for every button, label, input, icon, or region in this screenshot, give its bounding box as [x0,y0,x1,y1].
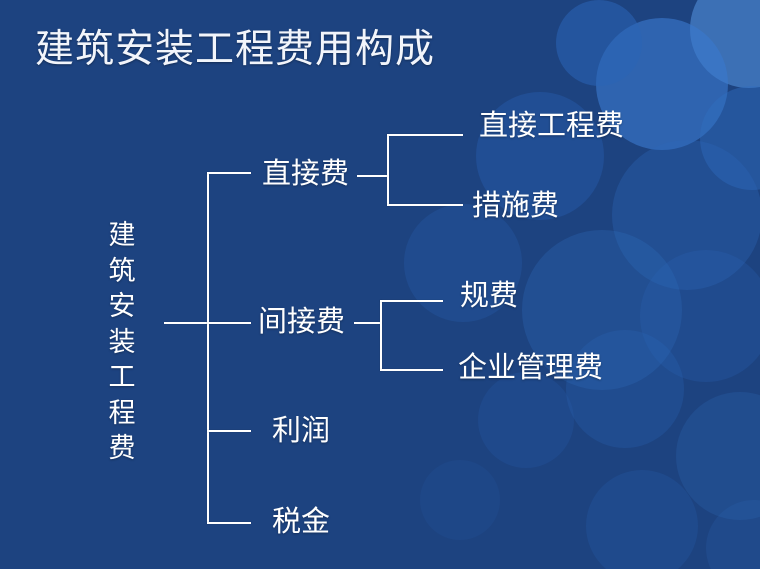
node-indirect-cost: 间接费 [258,308,345,337]
slide-canvas: 建筑安装工程费用构成 建 筑 安 装 工 程 费 直接费 间接费 利润 税金 [0,0,760,569]
subbranch-stub-measure-cost [387,204,463,206]
branch-stub-indirect-cost [207,322,251,324]
root-char-6: 费 [101,431,143,467]
node-direct-engineering-cost: 直接工程费 [479,112,624,141]
subbracket-spine-indirect-cost [380,300,382,371]
branch-stub-direct-cost [207,172,251,174]
node-direct-cost: 直接费 [262,160,349,189]
main-bracket-spine [207,172,209,524]
subbranch-stub-enterprise-management-fee [380,369,443,371]
subbranch-connector-direct-cost [357,175,389,177]
root-char-2: 安 [101,289,143,325]
subbranch-stub-direct-engineering-cost [387,134,463,136]
root-char-0: 建 [101,218,143,254]
root-char-5: 程 [101,396,143,432]
branch-stub-profit [207,430,251,432]
subbracket-spine-direct-cost [387,134,389,206]
subbranch-connector-indirect-cost [354,322,382,324]
root-char-1: 筑 [101,254,143,290]
node-profit: 利润 [272,417,330,446]
subbranch-stub-statutory-fee [380,300,443,302]
node-enterprise-management-fee: 企业管理费 [458,354,603,383]
cost-structure-diagram: 建 筑 安 装 工 程 费 直接费 间接费 利润 税金 直接工程费 措施费 [0,0,760,569]
node-measure-cost: 措施费 [472,192,559,221]
node-statutory-fee: 规费 [460,282,518,311]
branch-stub-tax [207,522,251,524]
diagram-root-label: 建 筑 安 装 工 程 费 [101,218,143,467]
root-char-3: 装 [101,325,143,361]
root-char-4: 工 [101,360,143,396]
node-tax: 税金 [272,508,330,537]
